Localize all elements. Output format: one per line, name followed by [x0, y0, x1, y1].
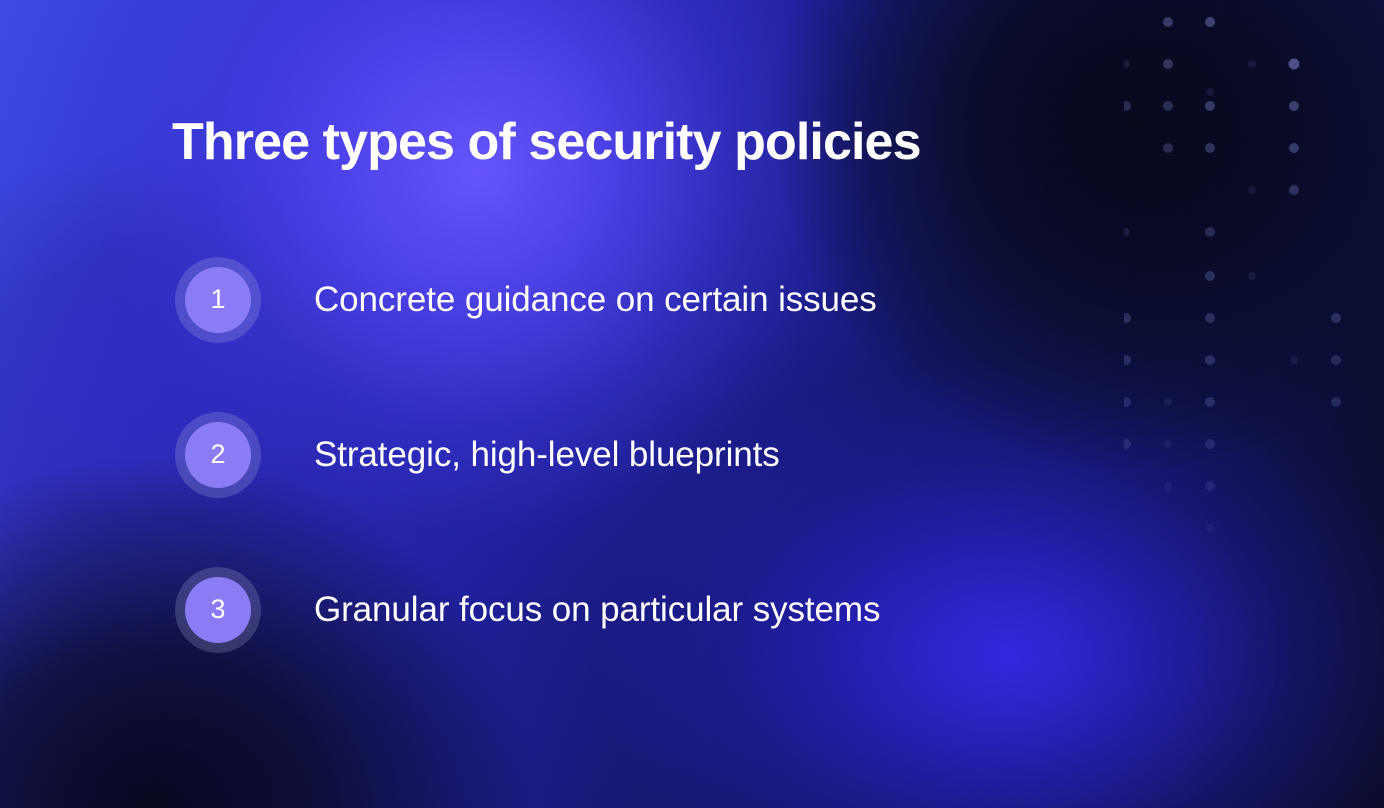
list-item: 2 Strategic, high-level blueprints [175, 412, 880, 498]
list-item-label-2: Strategic, high-level blueprints [314, 435, 780, 475]
policy-type-list: 1 Concrete guidance on certain issues 2 … [175, 257, 880, 653]
list-item: 1 Concrete guidance on certain issues [175, 257, 880, 343]
slide-content: Three types of security policies 1 Concr… [0, 0, 1384, 808]
number-badge-1-value: 1 [185, 267, 251, 333]
number-badge-3-value: 3 [185, 577, 251, 643]
list-item-label-3: Granular focus on particular systems [314, 590, 880, 630]
list-item-label-1: Concrete guidance on certain issues [314, 280, 877, 320]
list-item: 3 Granular focus on particular systems [175, 567, 880, 653]
number-badge-2-value: 2 [185, 422, 251, 488]
number-badge-1: 1 [175, 257, 261, 343]
number-badge-3: 3 [175, 567, 261, 653]
slide-canvas: Three types of security policies 1 Concr… [0, 0, 1384, 808]
number-badge-2: 2 [175, 412, 261, 498]
page-title: Three types of security policies [172, 113, 921, 173]
